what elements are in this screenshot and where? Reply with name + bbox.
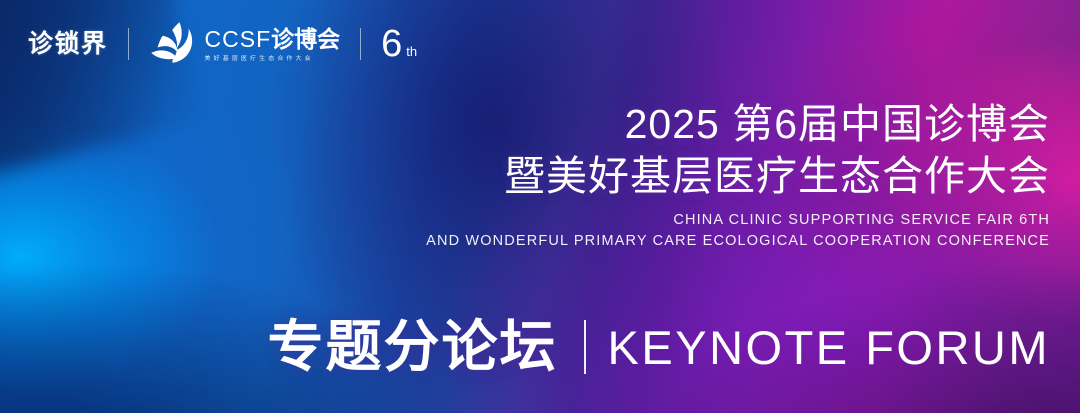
forum-headline: 专题分论坛 KEYNOTE FORUM	[268, 319, 1050, 375]
title-line-2: 暨美好基层医疗生态合作大会	[426, 150, 1050, 202]
ccsf-text-block: CCSF诊博会 美好基层医疗生态合作大会	[205, 26, 341, 62]
logo-divider-2	[360, 28, 361, 60]
ccsf-leaf-emblem-icon	[149, 21, 199, 67]
ccsf-tagline: 美好基层医疗生态合作大会	[205, 56, 341, 62]
ccsf-acronym: CCSF	[205, 26, 272, 52]
event-logo-ccsf[interactable]: CCSF诊博会 美好基层医疗生态合作大会	[149, 21, 341, 67]
brand-logo-zhensuojie[interactable]: 诊锁界	[28, 32, 108, 57]
edition-number: 6	[381, 25, 402, 63]
logo-divider-1	[128, 28, 129, 60]
english-subtitle-block: CHINA CLINIC SUPPORTING SERVICE FAIR 6TH…	[426, 210, 1050, 252]
edition-badge: 6 th	[381, 25, 417, 63]
english-subtitle-line-2: AND WONDERFUL PRIMARY CARE ECOLOGICAL CO…	[426, 231, 1050, 252]
ccsf-title-line: CCSF诊博会	[205, 28, 341, 51]
title-line-1: 2025 第6届中国诊博会	[426, 98, 1050, 150]
edition-ordinal: th	[406, 44, 417, 59]
forum-headline-en: KEYNOTE FORUM	[608, 324, 1050, 371]
ccsf-name-cn: 诊博会	[271, 26, 340, 52]
forum-headline-cn: 专题分论坛	[268, 319, 558, 375]
logo-bar: 诊锁界 CCSF诊博会 美好基层医疗生态合作大会 6 th	[28, 18, 417, 70]
title-block: 2025 第6届中国诊博会 暨美好基层医疗生态合作大会 CHINA CLINIC…	[426, 98, 1050, 252]
english-subtitle-line-1: CHINA CLINIC SUPPORTING SERVICE FAIR 6TH	[426, 210, 1050, 231]
forum-headline-divider	[584, 320, 586, 374]
conference-banner: 诊锁界 CCSF诊博会 美好基层医疗生态合作大会 6 th 2025 第6届中国…	[0, 0, 1080, 413]
